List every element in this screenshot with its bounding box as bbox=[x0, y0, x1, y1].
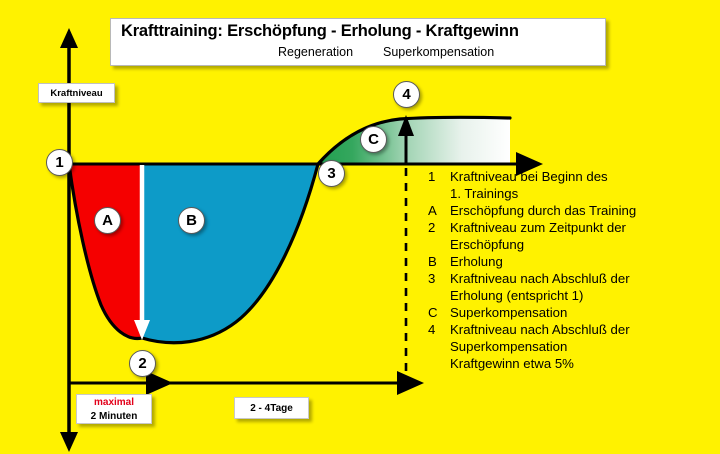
legend-key: C bbox=[428, 304, 450, 321]
y-axis-up-arrow-icon bbox=[60, 28, 78, 48]
legend-text: Kraftniveau zum Zeitpunkt der bbox=[450, 219, 718, 236]
title-subtitle-regeneration: Regeneration bbox=[278, 45, 353, 59]
title-box: Krafttraining: Erschöpfung - Erholung - … bbox=[110, 18, 606, 66]
legend-text: Superkompensation bbox=[450, 338, 718, 355]
legend-item: 1 Kraftniveau bei Beginn des bbox=[428, 168, 718, 185]
legend: 1 Kraftniveau bei Beginn des 1 1. Traini… bbox=[428, 168, 718, 372]
legend-item: 4 Kraftniveau nach Abschluß der bbox=[428, 321, 718, 338]
legend-key: B bbox=[428, 253, 450, 270]
marker-a[interactable]: A bbox=[94, 207, 121, 234]
y-axis-label: Kraftniveau bbox=[38, 83, 115, 103]
legend-item: B Erholung bbox=[428, 253, 718, 270]
y-axis-down-arrow-icon bbox=[60, 432, 78, 452]
legend-text: Erschöpfung bbox=[450, 236, 718, 253]
phase-a-duration-line1: maximal bbox=[77, 396, 151, 410]
phase-a-duration-box: maximal 2 Minuten bbox=[76, 394, 152, 424]
legend-item: 3 Kraftniveau nach Abschluß der bbox=[428, 270, 718, 287]
diagram-canvas: Krafttraining: Erschöpfung - Erholung - … bbox=[0, 0, 720, 454]
marker-b[interactable]: B bbox=[178, 207, 205, 234]
legend-text: Erholung (entspricht 1) bbox=[450, 287, 718, 304]
legend-key: 3 bbox=[428, 270, 450, 287]
legend-item: C Superkompensation bbox=[428, 304, 718, 321]
legend-item: A Erschöpfung durch das Training bbox=[428, 202, 718, 219]
region-c-supercompensation bbox=[318, 117, 510, 164]
marker-4[interactable]: 4 bbox=[393, 81, 420, 108]
marker-1[interactable]: 1 bbox=[46, 149, 73, 176]
legend-item: 2 Erschöpfung bbox=[428, 236, 718, 253]
title-subtitle-supercompensation: Superkompensation bbox=[383, 45, 494, 59]
legend-text: Kraftgewinn etwa 5% bbox=[450, 355, 718, 372]
title-main: Krafttraining: Erschöpfung - Erholung - … bbox=[121, 22, 519, 41]
legend-item: 4 Kraftgewinn etwa 5% bbox=[428, 355, 718, 372]
legend-item: 1 1. Trainings bbox=[428, 185, 718, 202]
phase-b-duration-box: 2 - 4Tage bbox=[234, 397, 309, 419]
legend-item: 2 Kraftniveau zum Zeitpunkt der bbox=[428, 219, 718, 236]
marker-c[interactable]: C bbox=[360, 126, 387, 153]
legend-text: Erschöpfung durch das Training bbox=[450, 202, 718, 219]
legend-text: Kraftniveau nach Abschluß der bbox=[450, 321, 718, 338]
marker-2[interactable]: 2 bbox=[129, 350, 156, 377]
legend-key: 4 bbox=[428, 321, 450, 338]
legend-text: Superkompensation bbox=[450, 304, 718, 321]
legend-text: Erholung bbox=[450, 253, 718, 270]
legend-key: 2 bbox=[428, 219, 450, 236]
legend-item: 4 Superkompensation bbox=[428, 338, 718, 355]
legend-key: 1 bbox=[428, 168, 450, 185]
legend-key: A bbox=[428, 202, 450, 219]
phase-a-duration-line2: 2 Minuten bbox=[77, 410, 151, 424]
legend-item: 3 Erholung (entspricht 1) bbox=[428, 287, 718, 304]
legend-text: Kraftniveau nach Abschluß der bbox=[450, 270, 718, 287]
region-b-recovery bbox=[142, 164, 318, 343]
marker-3[interactable]: 3 bbox=[318, 160, 345, 187]
legend-text: 1. Trainings bbox=[450, 185, 718, 202]
legend-text: Kraftniveau bei Beginn des bbox=[450, 168, 718, 185]
